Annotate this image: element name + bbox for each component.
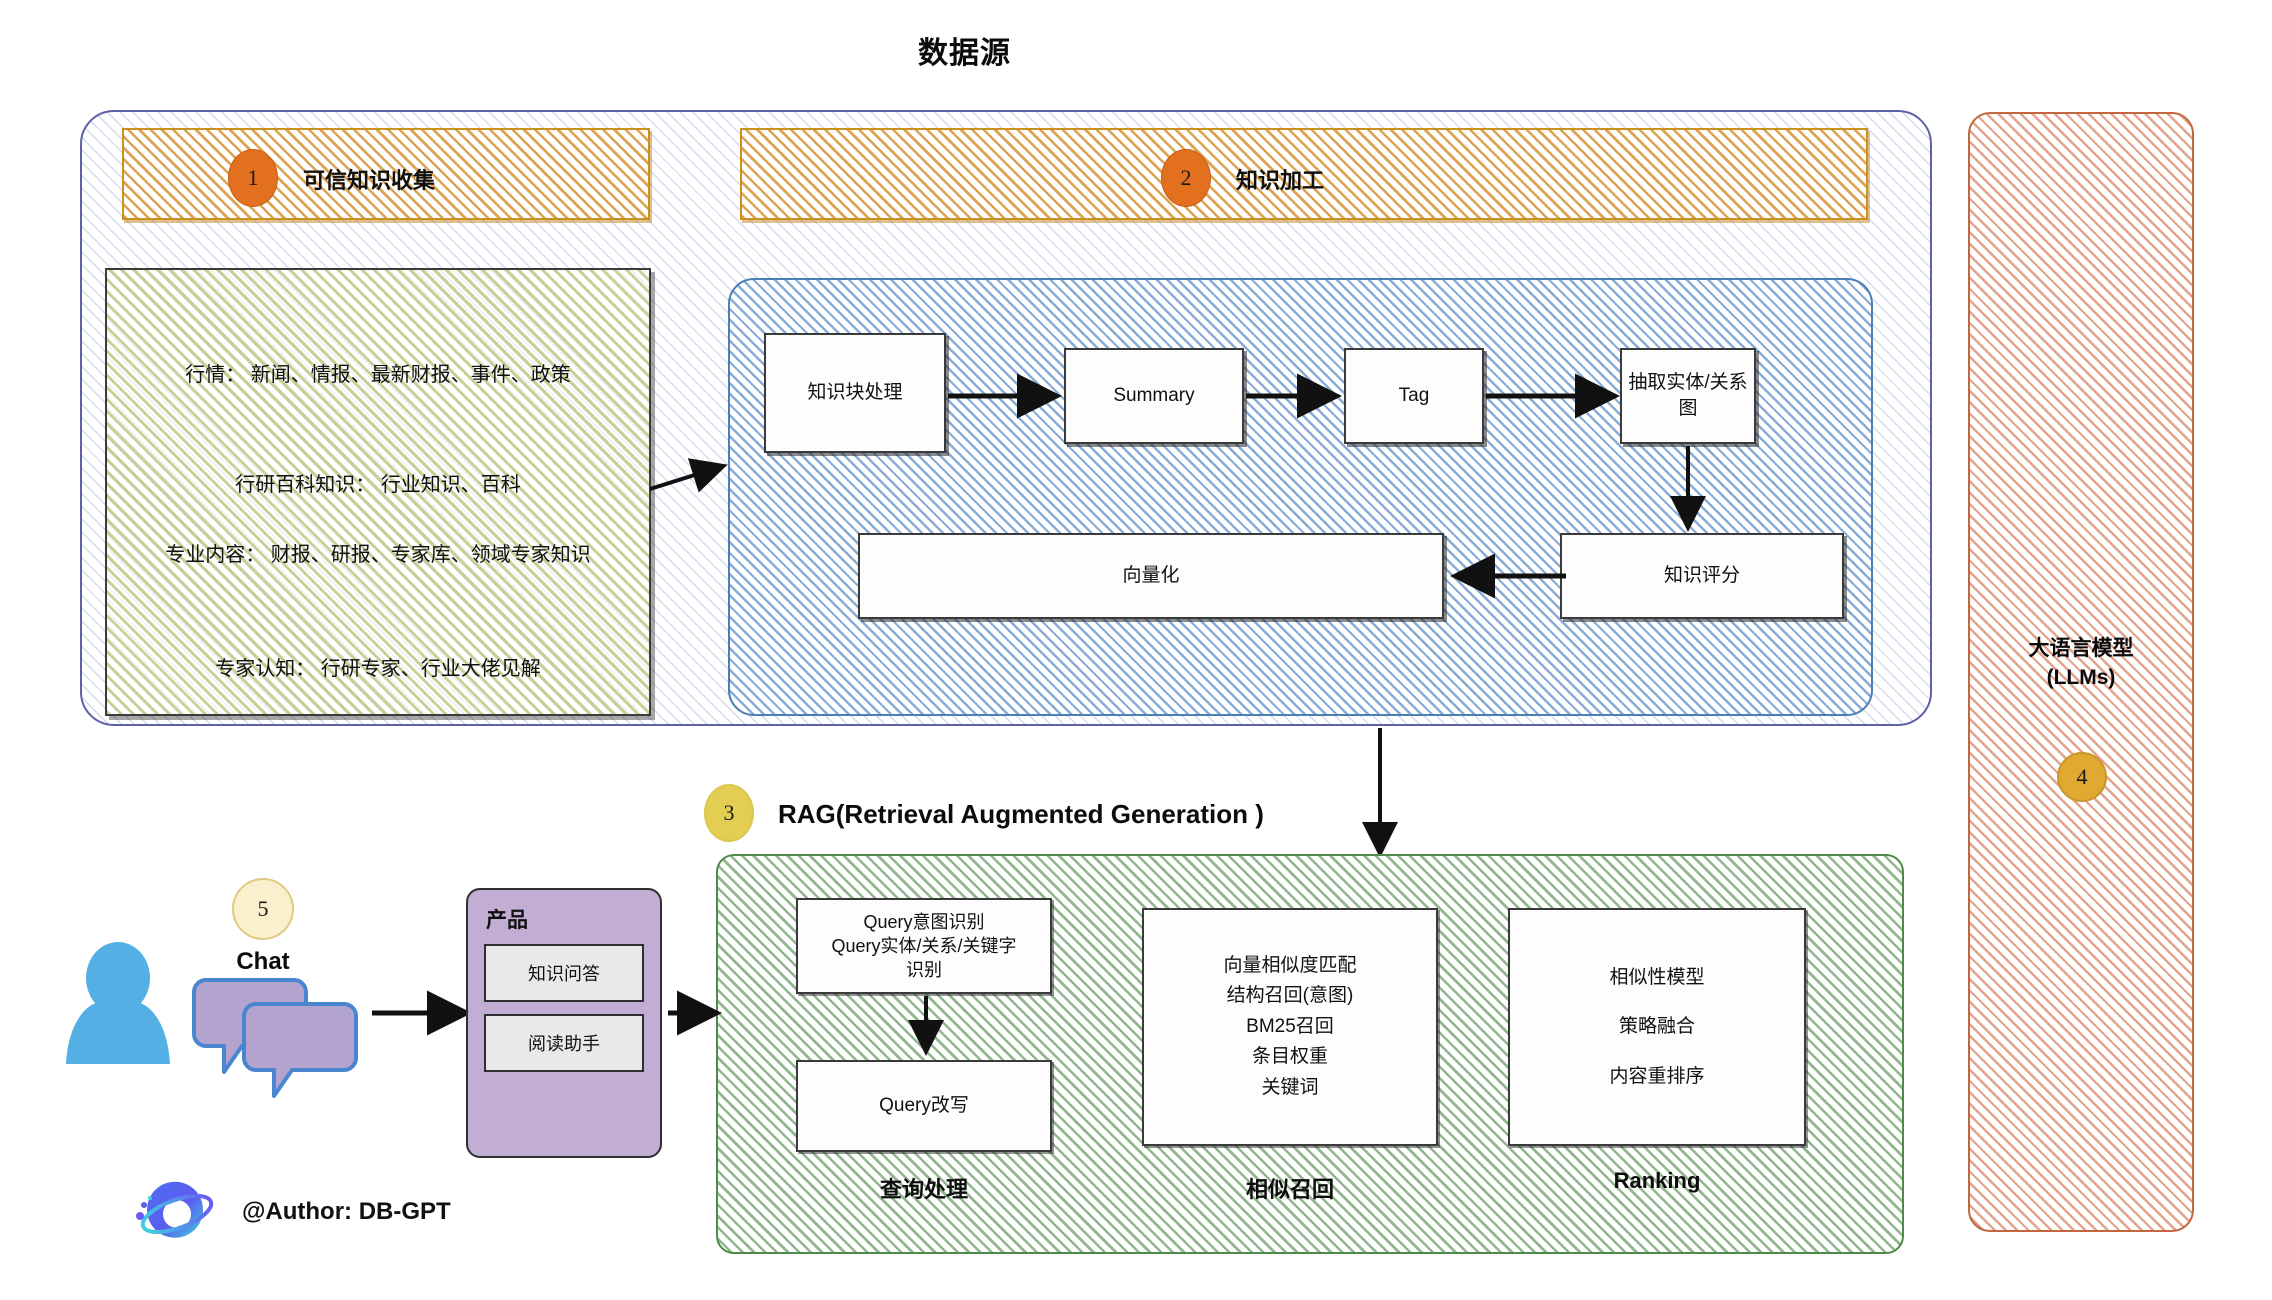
rag-box-query-rewrite: Query改写 — [796, 1060, 1052, 1152]
rag-box-query-intent-line-2: Query实体/关系/关键字 — [831, 934, 1016, 958]
rag-box-ranking-line-3: 内容重排序 — [1609, 1052, 1704, 1101]
rag-box-ranking-line-2: 策略融合 — [1619, 1002, 1695, 1051]
rag-column-caption-query-processing: 查询处理 — [796, 1172, 1052, 1204]
knowledge-source-line-3: 专业内容： 财报、研报、专家库、领域专家知识 — [107, 540, 649, 570]
pipeline-box-vectorize-label: 向量化 — [1122, 563, 1179, 589]
pipeline-box-tag: Tag — [1344, 348, 1484, 444]
rag-box-similarity-recall-line-3: BM25召回 — [1246, 1012, 1334, 1042]
step-badge-3-number: 3 — [724, 800, 735, 826]
rag-box-similarity-recall-line-5: 关键词 — [1261, 1073, 1318, 1103]
step-badge-5: 5 — [232, 878, 294, 940]
arrow-chat-to-product — [370, 1000, 480, 1026]
band-1-label: 可信知识收集 — [303, 163, 435, 195]
arrow-sources-to-pipeline — [648, 455, 738, 497]
arrow-pipeline-to-rag — [1358, 726, 1402, 866]
pipeline-box-summary-label: Summary — [1113, 383, 1194, 409]
knowledge-source-line-1: 行情： 新闻、情报、最新财报、事件、政策 — [107, 358, 649, 387]
arrow-summary-to-tag — [1244, 383, 1346, 409]
step-badge-3: 3 — [704, 784, 754, 842]
step-badge-2: 2 — [1161, 149, 1211, 207]
step-badge-1: 1 — [228, 149, 278, 207]
user-avatar-icon — [62, 940, 174, 1070]
rag-box-similarity-recall-line-1: 向量相似度匹配 — [1223, 951, 1356, 981]
rag-box-ranking-line-1: 相似性模型 — [1609, 953, 1704, 1002]
step-badge-1-number: 1 — [248, 165, 259, 191]
pipeline-box-summary: Summary — [1064, 348, 1244, 444]
pipeline-box-tag-label: Tag — [1399, 383, 1430, 409]
step-badge-4: 4 — [2057, 752, 2107, 802]
pipeline-box-entity-graph: 抽取实体/关系图 — [1620, 348, 1756, 444]
llm-title-line-2: (LLMs) — [1968, 663, 2194, 692]
rag-box-query-rewrite-label: Query改写 — [879, 1093, 969, 1119]
pipeline-box-chunking: 知识块处理 — [764, 333, 946, 453]
chat-label: Chat — [232, 948, 294, 976]
product-card: 产品 知识问答 阅读助手 — [466, 888, 662, 1158]
rag-box-query-intent-line-3: 识别 — [906, 958, 942, 982]
knowledge-source-line-4: 专家认知： 行研专家、行业大佬见解 — [107, 652, 649, 681]
product-item-reading-assistant[interactable]: 阅读助手 — [484, 1014, 644, 1072]
pipeline-box-vectorize: 向量化 — [858, 533, 1444, 619]
diagram-canvas: 数据源 1 可信知识收集 2 知识加工 行情： 新闻、情报、最新财报、事件、政策… — [0, 0, 2272, 1300]
author-credit: @Author: DB-GPT — [242, 1198, 451, 1226]
rag-column-caption-ranking: Ranking — [1508, 1168, 1806, 1194]
arrow-entity-graph-to-scoring — [1668, 444, 1708, 539]
rag-title: RAG(Retrieval Augmented Generation ) — [778, 799, 1264, 830]
rag-box-similarity-recall-line-4: 条目权重 — [1252, 1042, 1328, 1072]
page-title: 数据源 — [918, 28, 1011, 72]
band-2-label: 知识加工 — [1236, 163, 1324, 195]
product-item-qa-label: 知识问答 — [528, 960, 600, 986]
pipeline-box-scoring-label: 知识评分 — [1664, 563, 1740, 589]
arrow-scoring-to-vectorize — [1440, 563, 1568, 589]
step-badge-4-number: 4 — [2077, 764, 2088, 790]
arrow-product-to-rag — [666, 1000, 728, 1026]
rag-box-query-intent: Query意图识别 Query实体/关系/关键字 识别 — [796, 898, 1052, 994]
arrow-tag-to-entity-graph — [1484, 383, 1624, 409]
step-badge-2-number: 2 — [1181, 165, 1192, 191]
rag-box-query-intent-line-1: Query意图识别 — [863, 910, 984, 934]
product-item-reading-assistant-label: 阅读助手 — [528, 1030, 600, 1056]
chat-bubbles-icon — [186, 978, 366, 1098]
knowledge-sources-box: 行情： 新闻、情报、最新财报、事件、政策 行研百科知识： 行业知识、百科 专业内… — [105, 268, 651, 716]
arrow-chunking-to-summary — [946, 383, 1066, 409]
product-item-qa[interactable]: 知识问答 — [484, 944, 644, 1002]
product-card-title: 产品 — [486, 904, 642, 934]
pipeline-box-entity-graph-label: 抽取实体/关系图 — [1628, 370, 1748, 421]
pipeline-box-chunking-label: 知识块处理 — [807, 380, 902, 406]
rag-column-caption-similarity-recall: 相似召回 — [1142, 1172, 1438, 1204]
db-gpt-logo-icon — [134, 1174, 220, 1254]
rag-box-similarity-recall-line-2: 结构召回(意图) — [1227, 981, 1354, 1011]
step-badge-5-number: 5 — [258, 896, 269, 922]
arrow-intent-to-rewrite — [906, 994, 946, 1064]
pipeline-box-scoring: 知识评分 — [1560, 533, 1844, 619]
rag-box-similarity-recall: 向量相似度匹配 结构召回(意图) BM25召回 条目权重 关键词 — [1142, 908, 1438, 1146]
rag-box-ranking: 相似性模型 策略融合 内容重排序 — [1508, 908, 1806, 1146]
llm-title: 大语言模型 (LLMs) — [1968, 634, 2194, 693]
knowledge-source-line-2: 行研百科知识： 行业知识、百科 — [107, 468, 649, 497]
llm-title-line-1: 大语言模型 — [1968, 634, 2194, 663]
